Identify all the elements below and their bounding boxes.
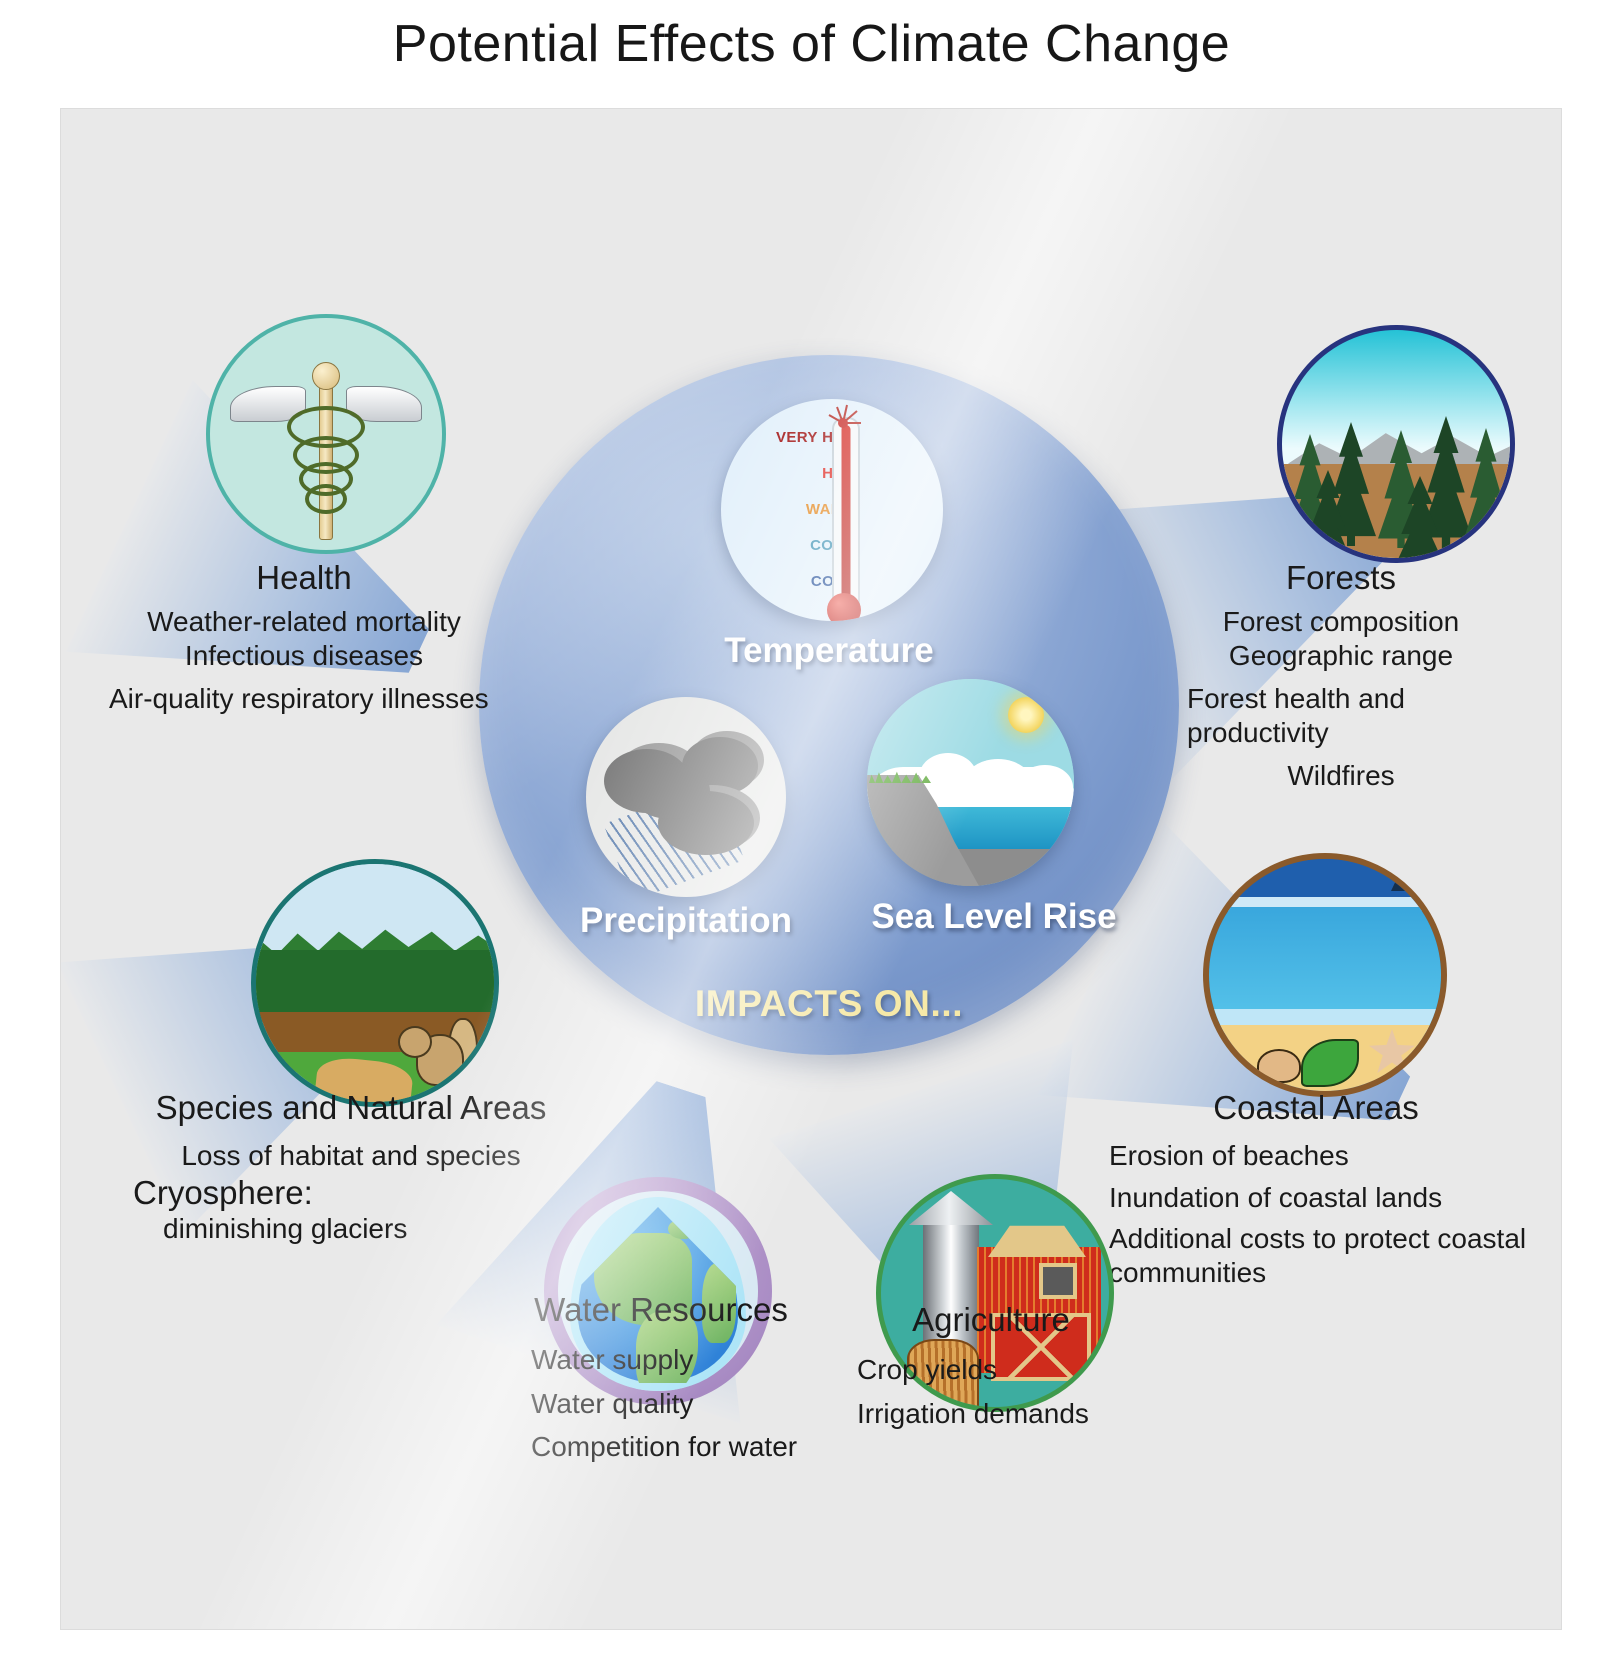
thermometer-tube bbox=[832, 417, 860, 611]
health-line-2: Infectious diseases bbox=[89, 639, 519, 673]
ocean bbox=[1209, 907, 1441, 1025]
coastal-line-3: Additional costs to protect coastal comm… bbox=[1081, 1222, 1551, 1289]
species-caption: Species and Natural Areas Loss of habita… bbox=[71, 1089, 631, 1246]
coastal-caption: Coastal Areas Erosion of beaches Inundat… bbox=[1081, 1089, 1551, 1289]
health-line-3: Air-quality respiratory illnesses bbox=[89, 682, 519, 716]
snake-coil bbox=[305, 484, 347, 514]
forests-line-1: Forest composition bbox=[1141, 605, 1541, 639]
barn-window bbox=[1039, 1263, 1077, 1299]
silo-roof bbox=[909, 1191, 993, 1225]
agriculture-title: Agriculture bbox=[781, 1301, 1201, 1339]
health-line-1: Weather-related mortality bbox=[89, 605, 519, 639]
forests-title: Forests bbox=[1141, 559, 1541, 597]
impacts-on-label: IMPACTS ON... bbox=[479, 983, 1179, 1025]
cloud-shape bbox=[1017, 765, 1073, 809]
coastal-line-2: Inundation of coastal lands bbox=[1081, 1181, 1551, 1215]
thermometer-burst-icon bbox=[817, 401, 869, 441]
sea-level-rise-label: Sea Level Rise bbox=[809, 897, 1179, 937]
species-title: Species and Natural Areas bbox=[71, 1089, 631, 1127]
landmass-greenland bbox=[668, 1219, 698, 1239]
coastal-line-1: Erosion of beaches bbox=[1081, 1139, 1551, 1173]
coastal-title: Coastal Areas bbox=[1081, 1089, 1551, 1127]
sky bbox=[1209, 859, 1441, 901]
central-climate-sphere: VERY HOT HOT WARM COOL COLD Temperature bbox=[479, 355, 1179, 1055]
page-title: Potential Effects of Climate Change bbox=[0, 14, 1623, 74]
temperature-label: Temperature bbox=[479, 631, 1179, 671]
coastline-sun-icon bbox=[867, 679, 1074, 886]
forests-line-2: Geographic range bbox=[1141, 639, 1541, 673]
coastal-areas-icon bbox=[1203, 853, 1447, 1097]
sun-icon bbox=[1008, 697, 1044, 733]
squirrel-head bbox=[398, 1026, 432, 1058]
rain-cloud-icon bbox=[586, 697, 786, 897]
agriculture-caption: Agriculture Crop yields Irrigation deman… bbox=[781, 1301, 1201, 1430]
species-line-3: diminishing glaciers bbox=[71, 1212, 631, 1246]
thermometer-mercury bbox=[842, 425, 851, 609]
agriculture-line-1: Crop yields bbox=[781, 1353, 1201, 1387]
forests-caption: Forests Forest composition Geographic ra… bbox=[1141, 559, 1541, 793]
caduceus-ball bbox=[312, 362, 340, 390]
agriculture-line-2: Irrigation demands bbox=[781, 1397, 1201, 1431]
health-icon bbox=[206, 314, 446, 554]
forests-line-4: Wildfires bbox=[1141, 759, 1541, 793]
thermometer-icon: VERY HOT HOT WARM COOL COLD bbox=[721, 399, 943, 621]
shell bbox=[1257, 1049, 1301, 1083]
thermometer-bulb bbox=[827, 593, 861, 621]
infographic-panel: VERY HOT HOT WARM COOL COLD Temperature bbox=[60, 108, 1562, 1630]
species-and-natural-areas-icon bbox=[251, 859, 499, 1107]
cloud-shape bbox=[630, 763, 710, 819]
health-title: Health bbox=[89, 559, 519, 597]
species-line-2: Cryosphere: bbox=[71, 1173, 631, 1213]
species-line-1: Loss of habitat and species bbox=[71, 1139, 631, 1173]
forests-icon bbox=[1277, 325, 1515, 563]
forests-line-3: Forest health and productivity bbox=[1141, 682, 1541, 749]
water-line-3: Competition for water bbox=[421, 1430, 901, 1464]
health-caption: Health Weather-related mortality Infecti… bbox=[89, 559, 519, 716]
